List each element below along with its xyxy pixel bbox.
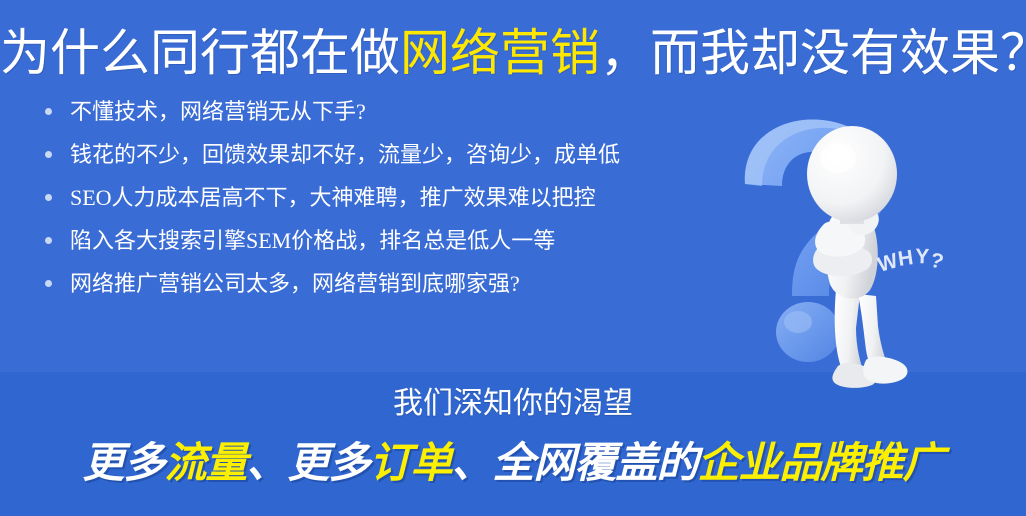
bottom-headline: 更多流量、更多订单、全网覆盖的企业品牌推广 <box>0 437 1026 489</box>
why-callout-text: W H Y ? <box>875 245 946 277</box>
list-item-label: SEO人力成本居高不下，大神难聘，推广效果难以把控 <box>70 185 596 210</box>
bottom-headline-highlight-traffic: 流量 <box>164 439 246 486</box>
list-item: 钱花的不少，回馈效果却不好，流量少，咨询少，成单低 <box>36 143 676 166</box>
subheading: 我们深知你的渴望 <box>0 386 1026 422</box>
list-item-label: 不懂技术，网络营销无从下手? <box>70 99 366 124</box>
list-item-label: 陷入各大搜索引擎SEM价格战，排名总是低人一等 <box>70 228 555 253</box>
svg-text:H: H <box>896 246 914 271</box>
headline-part-2: ，而我却没有效果？ <box>600 25 1026 81</box>
list-item: SEO人力成本居高不下，大神难聘，推广效果难以把控 <box>36 186 676 209</box>
bottom-headline-highlight-orders: 订单 <box>370 439 452 486</box>
bottom-headline-seg-1: 更多 <box>82 439 164 486</box>
headline-part-1: 为什么同行都在做 <box>0 25 400 81</box>
headline-highlight: 网络营销 <box>400 25 600 81</box>
svg-text:?: ? <box>928 249 946 274</box>
pain-point-list: 不懂技术，网络营销无从下手? 钱花的不少，回馈效果却不好，流量少，咨询少，成单低… <box>36 100 676 315</box>
bottom-headline-seg-3: 、更多 <box>246 439 369 486</box>
illustration: W H Y ? <box>700 112 1000 392</box>
list-item: 不懂技术，网络营销无从下手? <box>36 100 676 123</box>
bottom-headline-highlight-brand: 企业品牌推广 <box>698 439 944 486</box>
list-item-label: 网络推广营销公司太多，网络营销到底哪家强? <box>70 271 520 296</box>
page-title: 为什么同行都在做网络营销，而我却没有效果？ <box>0 24 1026 82</box>
list-item: 陷入各大搜索引擎SEM价格战，排名总是低人一等 <box>36 229 676 252</box>
svg-text:Y: Y <box>915 245 930 268</box>
list-item: 网络推广营销公司太多，网络营销到底哪家强? <box>36 272 676 295</box>
list-item-label: 钱花的不少，回馈效果却不好，流量少，咨询少，成单低 <box>70 142 620 167</box>
bottom-headline-seg-5: 、全网覆盖的 <box>452 439 698 486</box>
marketing-banner: 为什么同行都在做网络营销，而我却没有效果？ 不懂技术，网络营销无从下手? 钱花的… <box>0 0 1026 516</box>
